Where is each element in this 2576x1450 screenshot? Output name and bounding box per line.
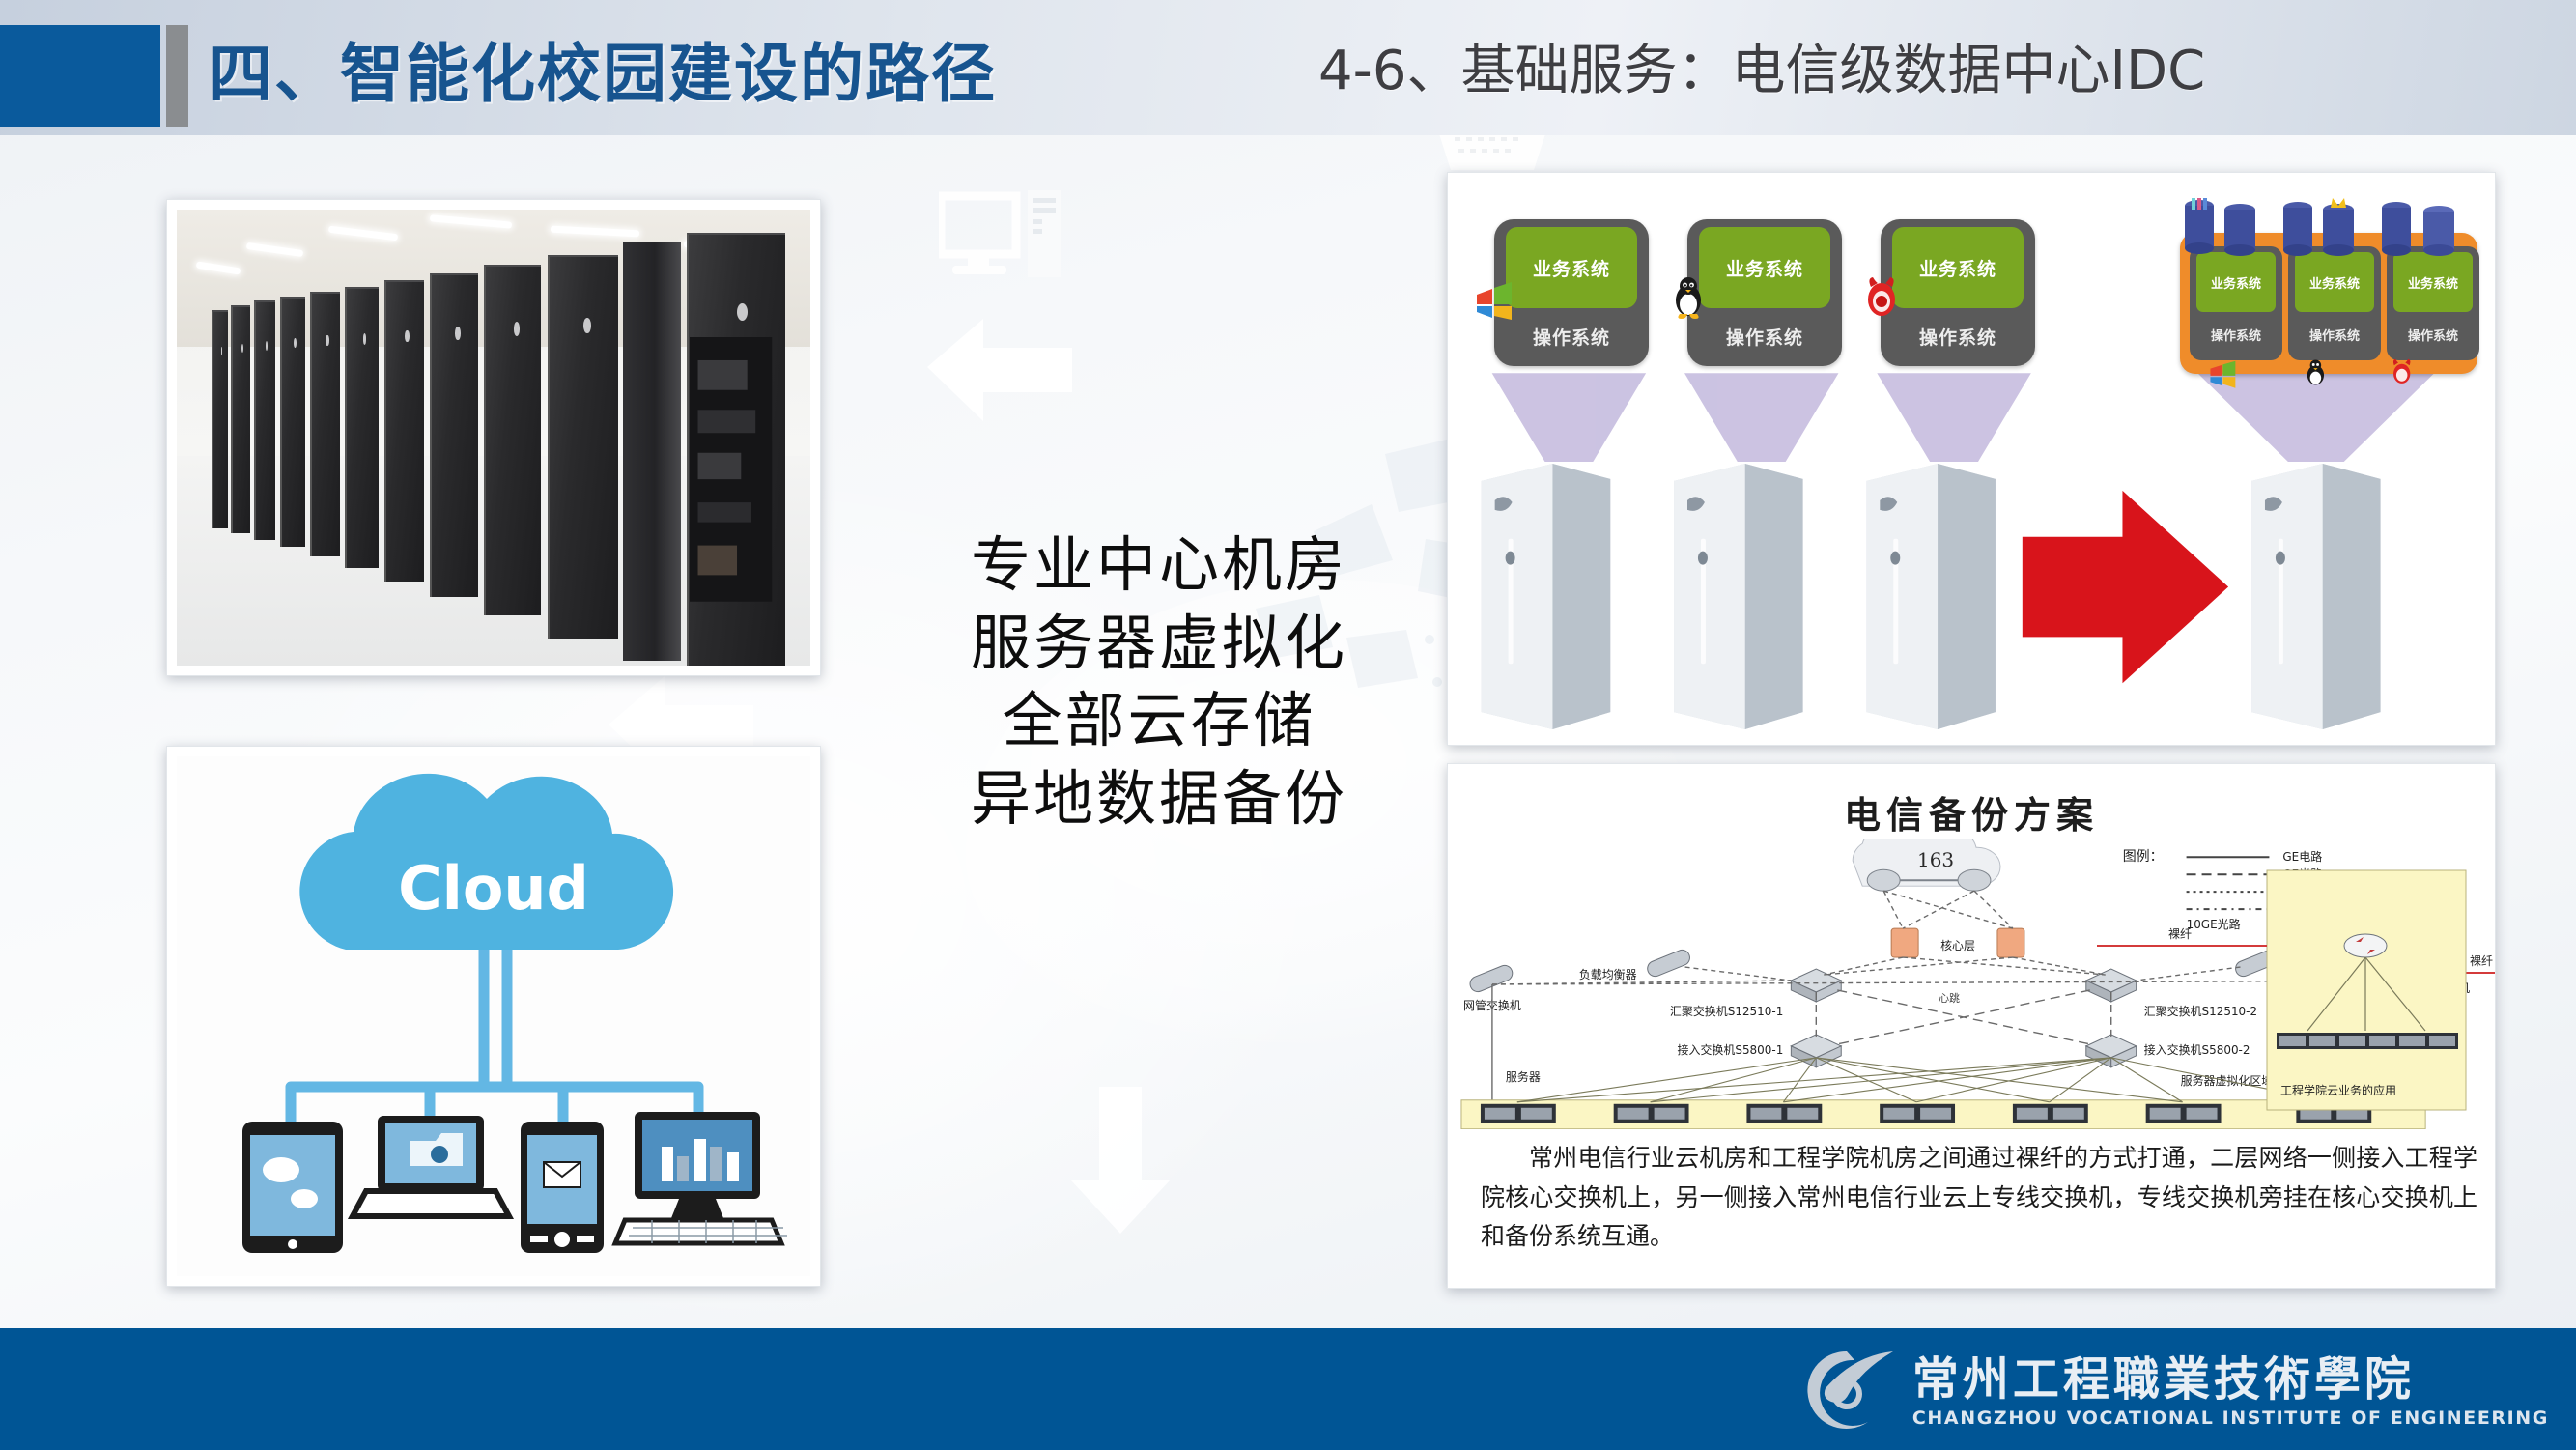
cloud-label: Cloud: [398, 853, 589, 924]
disk-stack: [2382, 202, 2411, 256]
server-rack: [212, 310, 228, 529]
unix-devil-logo-icon: [2393, 359, 2410, 384]
backup-plan-card: 电信备份方案 163 图例： GE电路 GE光路: [1447, 763, 2496, 1289]
server-rack-open-door: [623, 242, 680, 661]
internet-cloud-163: 163: [1853, 839, 2000, 891]
institute-logo-mark-icon: [1797, 1346, 1897, 1438]
management-switch: [1468, 963, 1515, 994]
institute-logo-text: 常州工程職業技術學院 CHANGZHOU VOCATIONAL INSTITUT…: [1912, 1355, 2549, 1429]
heartbeat-label: 心跳: [1939, 991, 1960, 1005]
server-rack: [484, 265, 541, 615]
cluster-vm-os-box: 操作系统: [2288, 316, 2381, 353]
disk-stack: [2323, 198, 2354, 256]
institute-server-blades: [2277, 1033, 2458, 1049]
institute-core-router: [2344, 934, 2387, 957]
server-rack: [231, 305, 250, 533]
backup-plan-paragraph: 常州电信行业云机房和工程学院机房之间通过裸纤的方式打通，二层网络一侧接入工程学院…: [1481, 1139, 2477, 1257]
windows-logo-icon: [2210, 361, 2235, 388]
key-point-3: 全部云存储: [908, 682, 1410, 760]
cluster-vm-app-label: 业务系统: [2211, 273, 2261, 292]
load-balancer-left-label: 负载均衡器: [1579, 968, 1637, 981]
physical-server-tower: [1482, 464, 1611, 729]
server-rack: [430, 273, 478, 597]
server-rack: [548, 255, 617, 638]
disk-stack: [2224, 204, 2255, 256]
arrow-watermark-left-upper-icon: [908, 309, 1082, 444]
physical-server-tower: [1866, 464, 1996, 729]
page-subtitle: 4-6、基础服务：电信级数据中心IDC: [1318, 27, 2205, 105]
monitor-watermark-icon: [939, 188, 1084, 295]
institute-name-cn: 常州工程職業技術學院: [1912, 1355, 2415, 1404]
institute-cloud-box-label: 工程学院云业务的应用: [2280, 1083, 2396, 1097]
institute-name-en: CHANGZHOU VOCATIONAL INSTITUTE OF ENGINE…: [1912, 1407, 2549, 1429]
physical-server-tower: [1674, 464, 1803, 729]
header-accent-block: [0, 25, 160, 127]
server-room-photo: [177, 210, 810, 666]
institute-cloud-box: 裸纤 工程学院云业务的应用: [2097, 861, 2479, 1123]
cluster-vm-app-label: 业务系统: [2309, 273, 2360, 292]
server-rack: [280, 297, 305, 548]
rack-interior-equipment: [690, 337, 772, 602]
backup-plan-diagram: 电信备份方案 163 图例： GE电路 GE光路: [1448, 764, 2495, 1288]
center-key-points: 专业中心机房 服务器虚拟化 全部云存储 异地数据备份: [908, 526, 1410, 838]
cloud-network-graphic: Cloud: [177, 756, 810, 1276]
cloud-diagram-card: Cloud: [166, 746, 821, 1287]
bare-fiber-label-2: 裸纤: [2168, 926, 2192, 941]
server-rack: [254, 300, 275, 540]
cluster-vm-app-label: 业务系统: [2408, 273, 2458, 292]
load-balancer-left: [1645, 948, 1692, 979]
footer-band: 常州工程職業技術學院 CHANGZHOU VOCATIONAL INSTITUT…: [0, 1328, 2576, 1450]
backup-plan-title: 电信备份方案: [1448, 785, 2495, 839]
cluster-vm-os-label: 操作系统: [2309, 326, 2360, 344]
device-phone-email: [521, 1122, 604, 1253]
core-layer-label: 核心层: [1940, 939, 1975, 952]
header-divider-bar: [166, 25, 188, 127]
storage-disk-stacks: [2178, 194, 2483, 264]
key-point-1: 专业中心机房: [908, 526, 1410, 605]
cluster-vm-os-box: 操作系统: [2387, 316, 2479, 353]
institute-logo: 常州工程職業技術學院 CHANGZHOU VOCATIONAL INSTITUT…: [1797, 1346, 2549, 1438]
cloud-diagram: Cloud: [177, 756, 810, 1276]
core-firewall-left: [1891, 928, 1918, 957]
page-title: 四、智能化校园建设的路径: [209, 22, 997, 115]
device-laptop-media: [353, 1116, 509, 1216]
device-tablet-chat: [242, 1122, 343, 1253]
key-point-2: 服务器虚拟化: [908, 605, 1410, 683]
server-label: 服务器: [1506, 1069, 1541, 1084]
cluster-os-logos: [2209, 356, 2441, 397]
disk-stack: [2185, 198, 2214, 254]
disk-stack: [2283, 202, 2312, 256]
aggregation-switch-1-label: 汇聚交换机S12510-1: [1670, 1004, 1783, 1018]
core-firewall-right: [1997, 928, 2024, 957]
virtualization-diagram-card: 业务系统 操作系统 业务系统 操作系统: [1447, 172, 2496, 746]
transformation-arrow-icon: [2023, 491, 2228, 683]
slide-canvas: 四、智能化校园建设的路径 4-6、基础服务：电信级数据中心IDC: [0, 0, 2576, 1450]
consolidated-server-tower: [2251, 464, 2381, 729]
virtualization-diagram: 业务系统 操作系统 业务系统 操作系统: [1448, 173, 2495, 745]
server-rack: [310, 292, 339, 556]
cluster-vm-os-label: 操作系统: [2408, 326, 2458, 344]
server-rack: [384, 280, 425, 582]
access-switch-1-label: 接入交换机S5800-1: [1678, 1042, 1784, 1057]
arrow-watermark-down-icon: [1062, 1087, 1178, 1241]
cluster-vm-os-box: 操作系统: [2190, 316, 2282, 353]
server-rack: [345, 287, 379, 567]
cloud-163-label: 163: [1917, 848, 1954, 871]
key-point-4: 异地数据备份: [908, 760, 1410, 839]
cluster-vm-os-label: 操作系统: [2211, 326, 2261, 344]
disk-stack: [2423, 206, 2454, 256]
server-room-photo-card: [166, 199, 821, 676]
linux-penguin-logo-icon: [2307, 359, 2324, 384]
device-desktop-chart: [615, 1112, 787, 1243]
